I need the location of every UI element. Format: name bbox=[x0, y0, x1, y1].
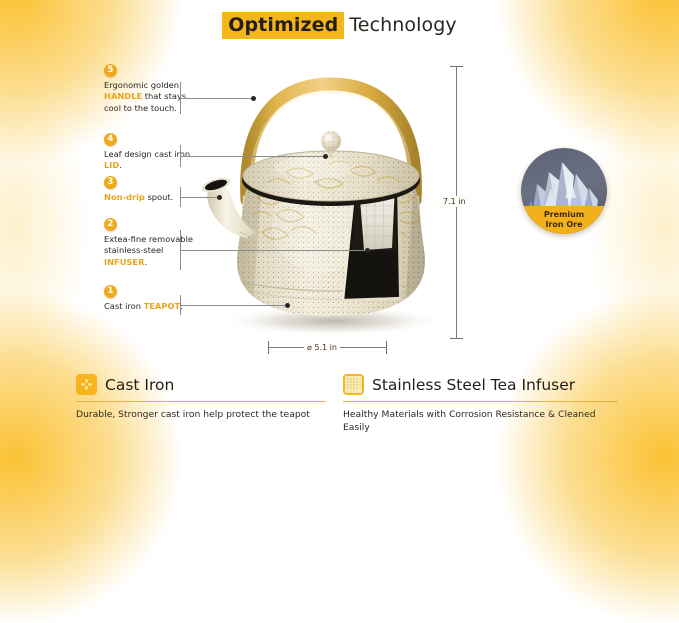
feature-cast-iron: Cast Iron Durable, Stronger cast iron he… bbox=[76, 374, 326, 421]
callout-leader-3 bbox=[180, 197, 220, 198]
callout-badge-5: 5 bbox=[104, 64, 117, 77]
height-dimension-label: 7.1 in bbox=[440, 196, 469, 207]
feature-tea-infuser: Stainless Steel Tea Infuser Healthy Mate… bbox=[343, 374, 618, 434]
callout-text-2: Extea-fine removable stainless-steel INF… bbox=[104, 234, 196, 268]
feature-cast-iron-rule bbox=[76, 401, 326, 402]
cast-iron-icon bbox=[76, 374, 97, 395]
callout-dot-4 bbox=[323, 154, 328, 159]
mesh-infuser-icon bbox=[343, 374, 364, 395]
feature-tea-infuser-desc: Healthy Materials with Corrosion Resista… bbox=[343, 408, 618, 434]
callout-text-4: Leaf design cast iron LID. bbox=[104, 149, 196, 172]
callout-dot-2 bbox=[365, 248, 370, 253]
feature-tea-infuser-title: Stainless Steel Tea Infuser bbox=[372, 376, 575, 394]
callout-dot-3 bbox=[217, 195, 222, 200]
callout-badge-2: 2 bbox=[104, 218, 117, 231]
callout-2[interactable]: 2 Extea-fine removable stainless-steel I… bbox=[104, 218, 196, 268]
feature-cast-iron-title: Cast Iron bbox=[105, 376, 174, 394]
height-cap-top bbox=[450, 66, 463, 67]
ore-badge-banner: Premium Iron Ore bbox=[521, 206, 607, 234]
callout-5[interactable]: 5 Ergonomic golden HANDLE that stays coo… bbox=[104, 64, 196, 114]
feature-tea-infuser-rule bbox=[343, 401, 618, 402]
callout-leader-1 bbox=[180, 305, 288, 306]
callout-badge-4: 4 bbox=[104, 133, 117, 146]
callout-4[interactable]: 4 Leaf design cast iron LID. bbox=[104, 133, 196, 172]
callout-leader-2 bbox=[180, 250, 368, 251]
callout-leader-5 bbox=[180, 98, 254, 99]
callout-3[interactable]: 3 Non-drip spout. bbox=[104, 176, 196, 203]
width-dimension-label: ⌀ 5.1 in bbox=[304, 342, 340, 353]
feature-cast-iron-desc: Durable, Stronger cast iron help protect… bbox=[76, 408, 326, 421]
callout-badge-3: 3 bbox=[104, 176, 117, 189]
callout-1[interactable]: 1 Cast iron TEAPOT. bbox=[104, 285, 196, 312]
premium-iron-ore-badge: Premium Iron Ore bbox=[521, 148, 607, 234]
callout-badge-1: 1 bbox=[104, 285, 117, 298]
ore-banner-line1: Premium bbox=[521, 210, 607, 220]
ore-banner-line2: Iron Ore bbox=[521, 220, 607, 230]
width-cap-right bbox=[386, 341, 387, 354]
callout-leader-4 bbox=[180, 156, 326, 157]
width-cap-left bbox=[268, 341, 269, 354]
callout-text-1: Cast iron TEAPOT. bbox=[104, 301, 196, 312]
height-cap-bottom bbox=[450, 338, 463, 339]
callout-dot-5 bbox=[251, 96, 256, 101]
callout-dot-1 bbox=[285, 303, 290, 308]
